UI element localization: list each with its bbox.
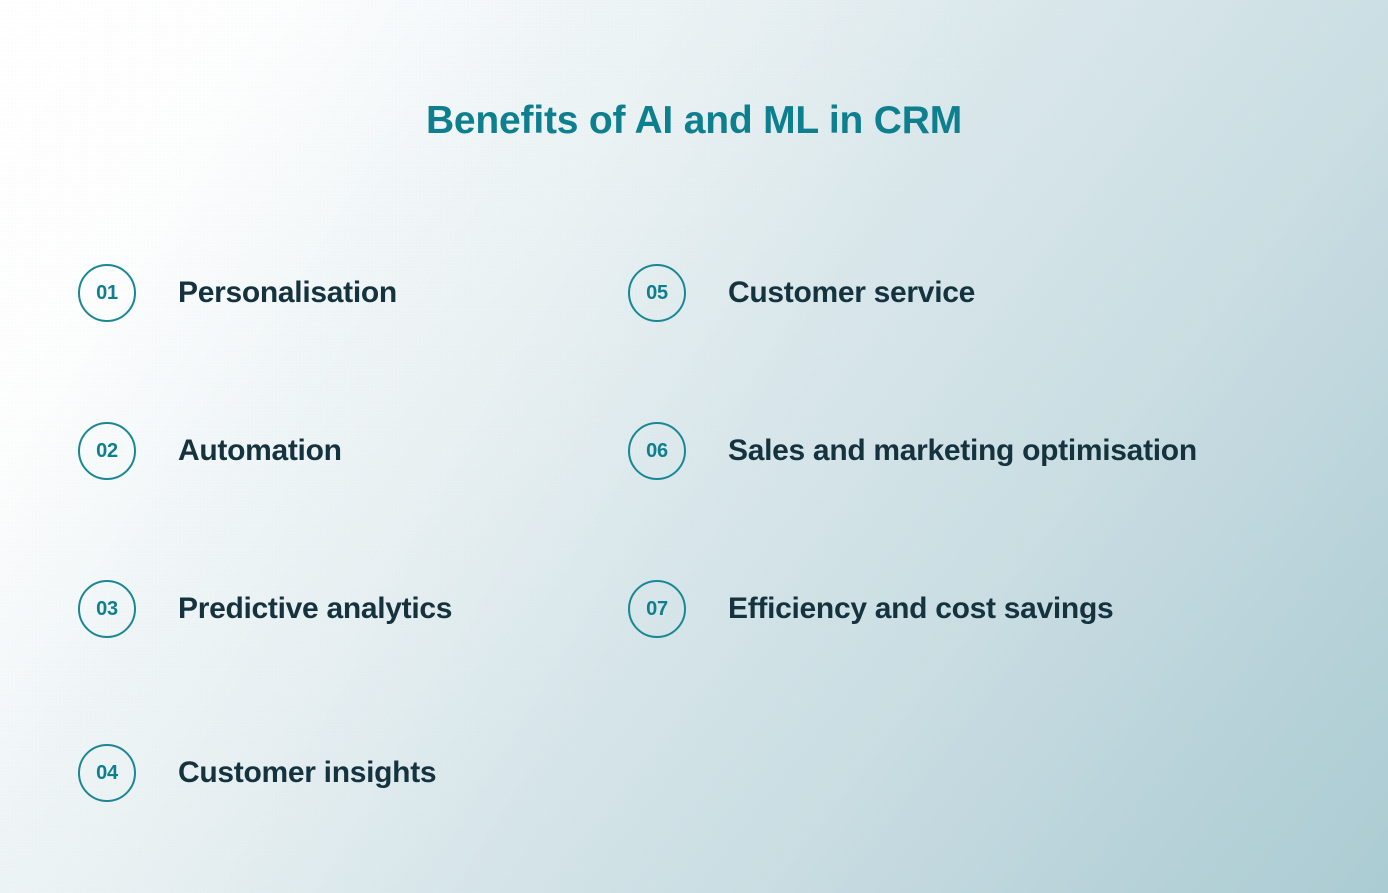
benefit-item-07: 07 Efficiency and cost savings — [628, 580, 1113, 638]
benefit-number-badge: 05 — [628, 264, 686, 322]
benefit-label: Personalisation — [178, 278, 397, 308]
benefit-item-05: 05 Customer service — [628, 264, 975, 322]
benefit-label: Customer service — [728, 278, 975, 308]
benefit-number-badge: 07 — [628, 580, 686, 638]
benefit-item-04: 04 Customer insights — [78, 744, 436, 802]
benefit-item-02: 02 Automation — [78, 422, 342, 480]
benefit-number-badge: 02 — [78, 422, 136, 480]
benefit-item-06: 06 Sales and marketing optimisation — [628, 422, 1197, 480]
benefit-item-01: 01 Personalisation — [78, 264, 397, 322]
benefits-list: 01 Personalisation 02 Automation 03 Pred… — [0, 0, 1388, 893]
benefit-label: Sales and marketing optimisation — [728, 436, 1197, 466]
infographic-slide: Benefits of AI and ML in CRM 01 Personal… — [0, 0, 1388, 893]
benefit-item-03: 03 Predictive analytics — [78, 580, 452, 638]
benefit-number-badge: 01 — [78, 264, 136, 322]
benefit-label: Predictive analytics — [178, 594, 452, 624]
benefit-number-badge: 06 — [628, 422, 686, 480]
benefit-label: Automation — [178, 436, 342, 466]
benefit-label: Efficiency and cost savings — [728, 594, 1113, 624]
benefit-number-badge: 03 — [78, 580, 136, 638]
benefit-number-badge: 04 — [78, 744, 136, 802]
benefit-label: Customer insights — [178, 758, 436, 788]
